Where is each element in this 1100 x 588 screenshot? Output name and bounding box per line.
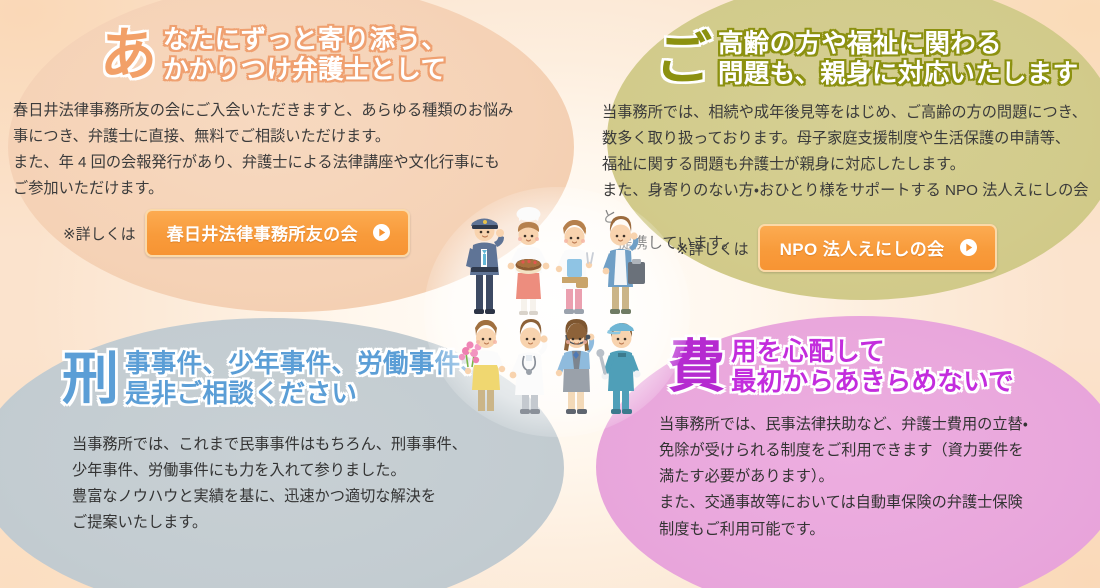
panel-criminal-body: 当事務所では、これまで民事事件はもちろん、刑事事件、 少年事件、労働事件にも力を… [72,432,522,537]
person-mechanic [596,323,640,414]
wrench-icon [596,349,605,373]
panel-fees-heading: 費 用を心配して 最初からあきらめないで [668,338,1014,397]
panel-fees-headline: 用を心配して 最初からあきらめないで [731,338,1014,397]
panel-fees-headline-line2: 最初からあきらめないで [731,368,1014,398]
play-circle-icon [960,239,977,256]
panel-tomonokai-cta-note: ※詳しくは [63,223,136,244]
person-office-worker [603,216,645,314]
npo-enishi-link-button[interactable]: NPO 法人えにしの会 [758,224,997,272]
panel-welfare-headline-line1: 高齢の方や福祉に関わる [718,30,1078,60]
occupations-illustration [452,205,662,420]
panel-criminal-headline-line2: 是非ご相談ください [125,380,486,410]
person-doctor [510,319,548,414]
panel-criminal-initial: 刑 [62,351,118,408]
panel-fees-body: 当事務所では、民事法律扶助など、弁護士費用の立替・ 免除が受けられる制度をご利用… [659,412,1079,543]
play-circle-icon [373,224,390,241]
panel-tomonokai-headline: なたにずっと寄り添う、 かかりつけ弁護士として [163,26,447,85]
panel-fees-headline-line1: 用を心配して [731,338,1014,368]
panel-criminal-heading: 刑 事事件、少年事件、労働事件、 是非ご相談ください [62,350,486,409]
tomonokai-link-label: 春日井法律事務所友の会 [167,220,358,245]
feature-panels-banner: あ なたにずっと寄り添う、 かかりつけ弁護士として 春日井法律事務所友の会にご入… [0,0,1100,588]
panel-tomonokai-headline-line2: かかりつけ弁護士として [163,56,447,86]
panel-welfare-heading: ご 高齢の方や福祉に関わる 問題も、親身に対応いたします [655,30,1078,89]
panel-welfare-headline: 高齢の方や福祉に関わる 問題も、親身に対応いたします [718,30,1078,89]
panel-welfare-cta-note: ※詳しくは [676,238,749,259]
panel-tomonokai-initial: あ [100,27,156,84]
person-hair-stylist [556,220,593,314]
tomonokai-link-button[interactable]: 春日井法律事務所友の会 [145,209,410,257]
person-police-officer [466,219,504,315]
npo-enishi-link-label: NPO 法人えにしの会 [780,235,945,260]
panel-welfare-headline-line2: 問題も、親身に対応いたします [718,60,1078,90]
panel-criminal-headline: 事事件、少年事件、労働事件、 是非ご相談ください [125,350,486,409]
person-pastry-chef [508,207,550,315]
panel-tomonokai-heading: あ なたにずっと寄り添う、 かかりつけ弁護士として [100,26,447,85]
panel-tomonokai-cta-row: ※詳しくは 春日井法律事務所友の会 [63,209,410,257]
person-florist [459,320,505,411]
panel-tomonokai-headline-line1: なたにずっと寄り添う、 [163,26,447,56]
panel-tomonokai-body: 春日井法律事務所友の会にご入会いただきますと、あらゆる種類のお悩み 事につき、弁… [13,98,543,203]
occupations-illustration-svg [452,205,662,420]
panel-welfare-cta-row: ※詳しくは NPO 法人えにしの会 [676,224,997,272]
person-call-center-staff [556,319,595,414]
panel-welfare-initial: ご [655,31,711,88]
